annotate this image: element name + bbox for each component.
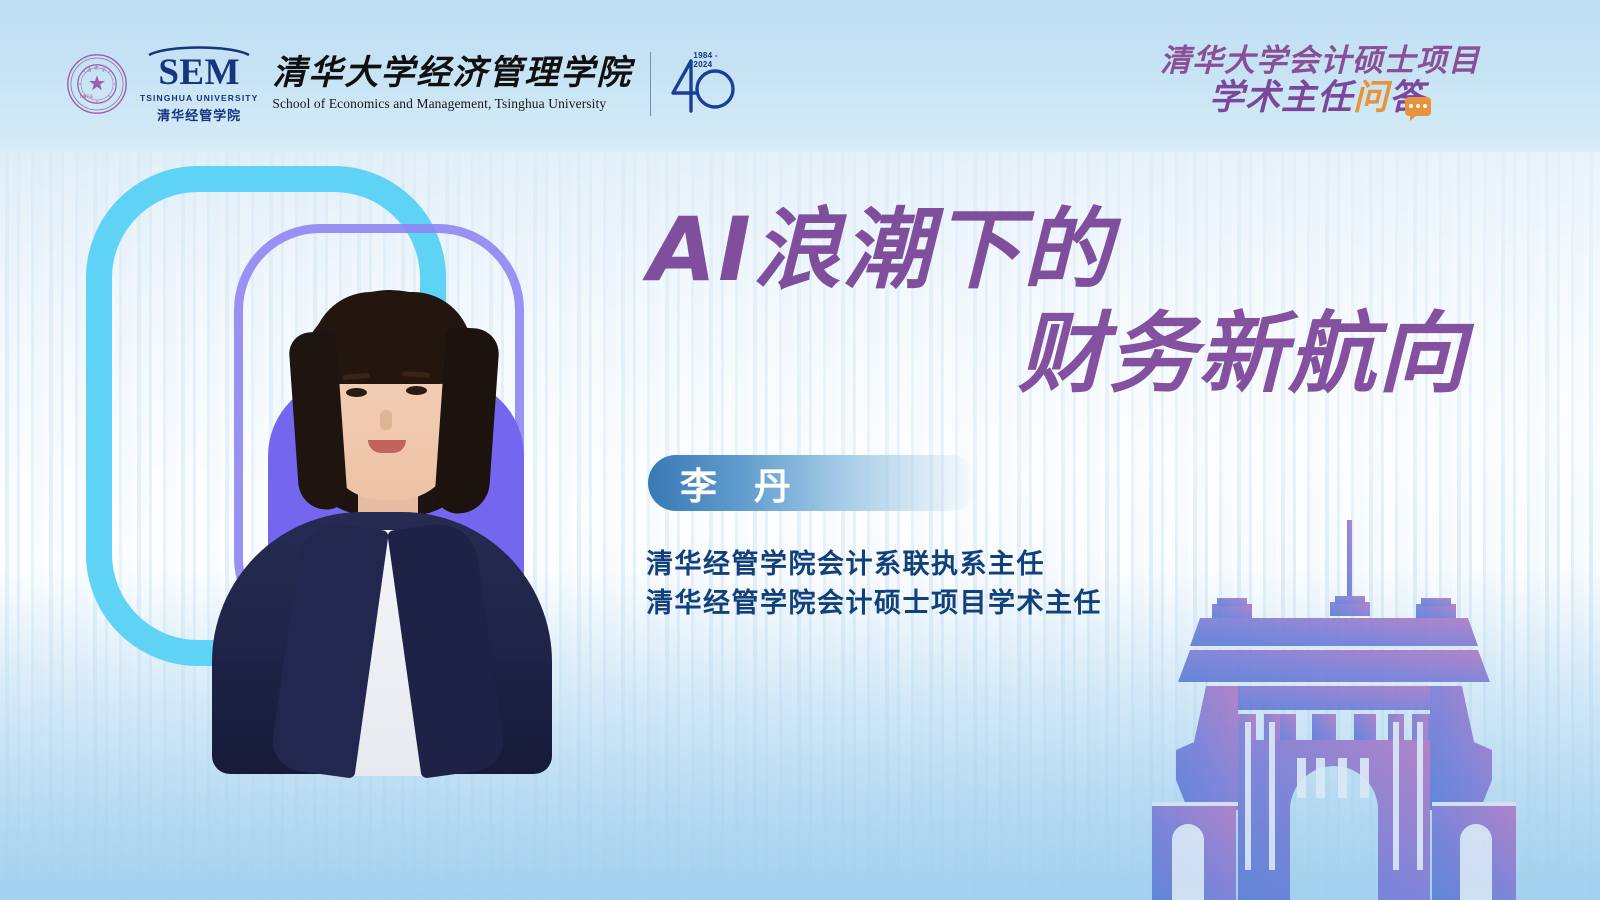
chat-bubble-dots xyxy=(1409,104,1427,108)
poster-canvas: 清大学 自强不息 SEM TSINGHUA UNIVERSITY 清华经管学院 … xyxy=(0,0,1600,900)
sem-chinese-small: 清华经管学院 xyxy=(157,105,241,124)
speaker-name-badge: 李 丹 xyxy=(648,455,978,511)
tsinghua-seal-icon: 清大学 自强不息 xyxy=(66,53,128,115)
speaker-portrait xyxy=(190,212,570,772)
program-header-title: 清华大学会计硕士项目 学术主任 问 答 xyxy=(1160,44,1480,118)
portrait-nose xyxy=(380,410,392,430)
school-name-block: 清华大学经济管理学院 School of Economics and Manag… xyxy=(272,56,632,112)
school-name-chinese: 清华大学经济管理学院 xyxy=(272,56,632,92)
speaker-roles: 清华经管学院会计系联执系主任 清华经管学院会计硕士项目学术主任 xyxy=(646,545,1102,623)
speaker-portrait-composition xyxy=(86,166,586,786)
program-title-line1: 清华大学会计硕士项目 xyxy=(1160,44,1480,79)
sem-english-small: TSINGHUA UNIVERSITY xyxy=(140,93,258,103)
institution-logo-lockup: 清大学 自强不息 SEM TSINGHUA UNIVERSITY 清华经管学院 … xyxy=(66,44,737,124)
program-title-line2-main: 学术主任 xyxy=(1209,79,1353,118)
svg-text:自强不息: 自强不息 xyxy=(80,94,94,99)
speaker-role-1: 清华经管学院会计系联执系主任 xyxy=(646,545,1102,584)
sem-wordmark: SEM TSINGHUA UNIVERSITY 清华经管学院 xyxy=(140,44,258,123)
main-title-line1: AI浪潮下的 xyxy=(648,198,1468,302)
svg-text:大: 大 xyxy=(94,65,99,72)
speaker-name: 李 丹 xyxy=(680,456,803,510)
svg-text:清: 清 xyxy=(87,67,92,74)
anniversary-logo: 1984 - 2024 xyxy=(667,53,737,115)
portrait-eye-right xyxy=(406,386,427,395)
portrait-hair-right xyxy=(434,326,501,515)
anniversary-years-text: 1984 - 2024 xyxy=(693,51,737,69)
svg-text:学: 学 xyxy=(101,67,106,73)
portrait-eye-left xyxy=(346,388,367,397)
tsinghua-second-gate-illustration xyxy=(1116,510,1586,900)
chat-bubble-icon xyxy=(1405,97,1431,116)
main-title-line2: 财务新航向 xyxy=(648,302,1468,406)
main-title: AI浪潮下的 财务新航向 xyxy=(648,198,1468,406)
speaker-role-2: 清华经管学院会计硕士项目学术主任 xyxy=(646,584,1102,623)
question-mark-glyph: 问 xyxy=(1353,79,1389,118)
sem-abbrev-text: SEM xyxy=(158,55,240,90)
logo-divider xyxy=(650,52,651,116)
school-name-english: School of Economics and Management, Tsin… xyxy=(272,96,632,112)
program-title-line2-wrap: 学术主任 问 答 xyxy=(1160,79,1480,118)
